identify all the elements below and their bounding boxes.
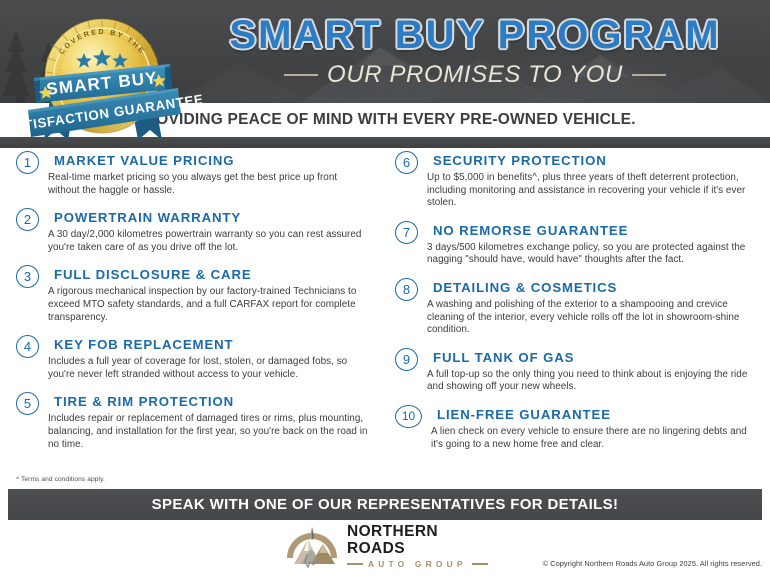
promise-body: MARKET VALUE PRICING Real-time market pr… — [48, 151, 371, 197]
footer: NORTHERN ROADS AUTO GROUP © Copyright No… — [0, 520, 770, 578]
cta-banner[interactable]: SPEAK WITH ONE OF OUR REPRESENTATIVES FO… — [8, 489, 762, 520]
logo-name: NORTHERN ROADS — [347, 523, 493, 557]
promise-text: A 30 day/2,000 kilometres powertrain war… — [48, 229, 371, 254]
promise-number: 4 — [16, 335, 39, 358]
mountain-compass-icon — [283, 524, 341, 568]
promise-number: 7 — [395, 221, 418, 244]
promise-number: 3 — [16, 265, 39, 288]
header-title-group: SMART BUY PROGRAM OUR PROMISES TO YOU — [190, 13, 760, 101]
promise-item: 2 POWERTRAIN WARRANTY A 30 day/2,000 kil… — [16, 208, 371, 254]
logo-tagline-text: AUTO GROUP — [368, 559, 467, 569]
subtitle-dash-right — [632, 74, 666, 76]
promise-number: 8 — [395, 278, 418, 301]
promise-item: 10 LIEN-FREE GUARANTEE A lien check on e… — [395, 405, 756, 451]
promise-heading: DETAILING & COSMETICS — [433, 280, 756, 295]
promise-number: 5 — [16, 392, 39, 415]
logo-rule-left — [347, 563, 363, 564]
promise-item: 3 FULL DISCLOSURE & CARE A rigorous mech… — [16, 265, 371, 324]
copyright-text: © Copyright Northern Roads Auto Group 20… — [543, 559, 762, 568]
promise-number: 1 — [16, 151, 39, 174]
promise-body: KEY FOB REPLACEMENT Includes a full year… — [48, 335, 371, 381]
promise-heading: SECURITY PROTECTION — [433, 153, 756, 168]
brand-logo[interactable]: NORTHERN ROADS AUTO GROUP — [283, 524, 493, 568]
promise-item: 6 SECURITY PROTECTION Up to $5,000 in be… — [395, 151, 756, 210]
promise-body: POWERTRAIN WARRANTY A 30 day/2,000 kilom… — [48, 208, 371, 254]
page-subtitle: OUR PROMISES TO YOU — [190, 61, 760, 89]
cta-text: SPEAK WITH ONE OF OUR REPRESENTATIVES FO… — [152, 496, 619, 513]
promise-item: 7 NO REMORSE GUARANTEE 3 days/500 kilome… — [395, 221, 756, 267]
promise-text: A full top-up so the only thing you need… — [427, 369, 756, 394]
promise-text: Includes a full year of coverage for los… — [48, 356, 371, 381]
tagline-text: PROVIDING PEACE OF MIND WITH EVERY PRE-O… — [134, 111, 635, 129]
promise-body: SECURITY PROTECTION Up to $5,000 in bene… — [427, 151, 756, 210]
promise-heading: LIEN-FREE GUARANTEE — [437, 407, 756, 422]
promise-number: 6 — [395, 151, 418, 174]
promise-text: 3 days/500 kilometres exchange policy, s… — [427, 242, 756, 267]
logo-rule-right — [472, 563, 488, 564]
promise-text: Includes repair or replacement of damage… — [48, 413, 371, 451]
promise-heading: FULL TANK OF GAS — [433, 350, 756, 365]
satisfaction-guarantee-badge: COVERED BY THE SMART BUY SATISFACTION GU… — [12, 4, 202, 148]
terms-disclaimer: ^ Terms and conditions apply. — [16, 476, 105, 483]
promise-body: FULL TANK OF GAS A full top-up so the on… — [427, 348, 756, 394]
promise-number: 2 — [16, 208, 39, 231]
subtitle-dash-left — [284, 74, 318, 76]
promises-column-left: 1 MARKET VALUE PRICING Real-time market … — [0, 151, 385, 476]
promise-text: A rigorous mechanical inspection by our … — [48, 286, 371, 324]
logo-wordmark: NORTHERN ROADS AUTO GROUP — [347, 523, 493, 569]
promise-item: 4 KEY FOB REPLACEMENT Includes a full ye… — [16, 335, 371, 381]
promise-item: 5 TIRE & RIM PROTECTION Includes repair … — [16, 392, 371, 451]
promise-item: 8 DETAILING & COSMETICS A washing and po… — [395, 278, 756, 337]
promise-body: LIEN-FREE GUARANTEE A lien check on ever… — [431, 405, 756, 451]
promise-body: FULL DISCLOSURE & CARE A rigorous mechan… — [48, 265, 371, 324]
promise-heading: POWERTRAIN WARRANTY — [54, 210, 371, 225]
promise-heading: NO REMORSE GUARANTEE — [433, 223, 756, 238]
promise-heading: KEY FOB REPLACEMENT — [54, 337, 371, 352]
page-title: SMART BUY PROGRAM — [190, 13, 760, 57]
promise-text: Real-time market pricing so you always g… — [48, 172, 371, 197]
promise-heading: FULL DISCLOSURE & CARE — [54, 267, 371, 282]
smart-buy-program-flyer: SMART BUY PROGRAM OUR PROMISES TO YOU — [0, 0, 770, 578]
logo-tagline: AUTO GROUP — [347, 559, 493, 569]
promise-text: Up to $5,000 in benefits^, plus three ye… — [427, 172, 756, 210]
promise-number: 9 — [395, 348, 418, 371]
promise-body: TIRE & RIM PROTECTION Includes repair or… — [48, 392, 371, 451]
promises-column-right: 6 SECURITY PROTECTION Up to $5,000 in be… — [385, 151, 770, 476]
promise-item: 1 MARKET VALUE PRICING Real-time market … — [16, 151, 371, 197]
subtitle-text: OUR PROMISES TO YOU — [327, 61, 623, 89]
promise-body: DETAILING & COSMETICS A washing and poli… — [427, 278, 756, 337]
promises-content: 1 MARKET VALUE PRICING Real-time market … — [0, 151, 770, 476]
promise-number: 10 — [395, 405, 422, 428]
promise-item: 9 FULL TANK OF GAS A full top-up so the … — [395, 348, 756, 394]
promise-body: NO REMORSE GUARANTEE 3 days/500 kilometr… — [427, 221, 756, 267]
promise-text: A lien check on every vehicle to ensure … — [431, 426, 756, 451]
promise-text: A washing and polishing of the exterior … — [427, 299, 756, 337]
promise-heading: TIRE & RIM PROTECTION — [54, 394, 371, 409]
promise-heading: MARKET VALUE PRICING — [54, 153, 371, 168]
